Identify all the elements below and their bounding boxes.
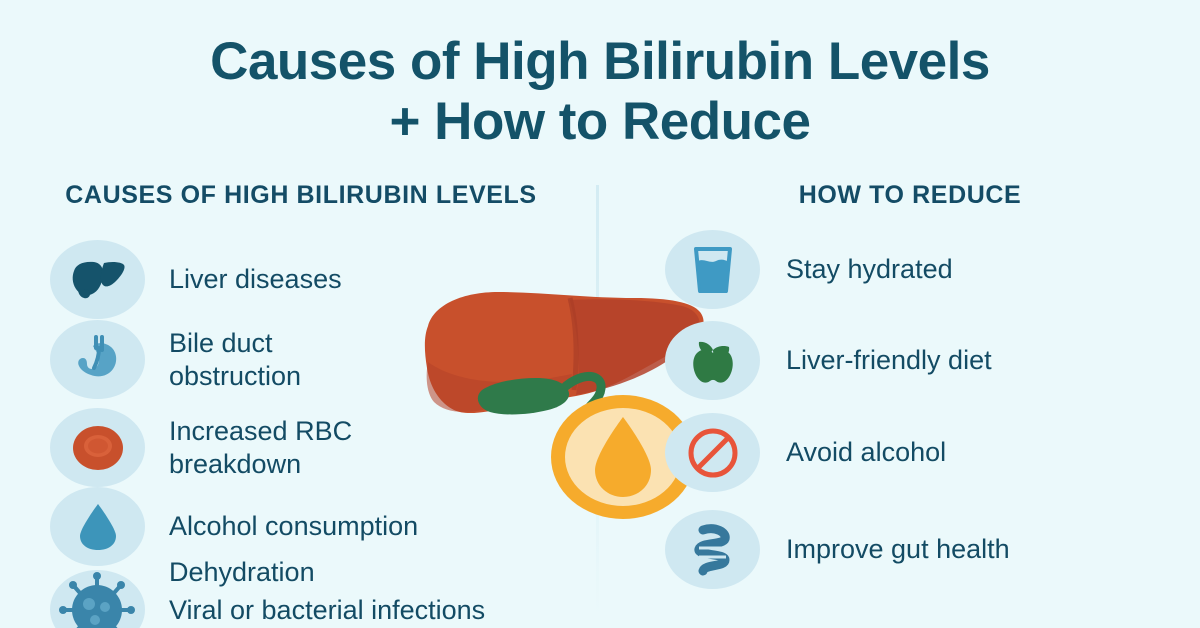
reduce-item-liver-friendly-diet[interactable]: Liver-friendly diet bbox=[665, 321, 992, 400]
cause-label: Increased RBC breakdown bbox=[169, 415, 352, 481]
reduce-label: Stay hydrated bbox=[786, 253, 953, 286]
liver-organ-shape bbox=[425, 292, 704, 413]
liver-lower-shading bbox=[427, 362, 572, 412]
reduce-label: Avoid alcohol bbox=[786, 436, 946, 469]
badge-inner-fill bbox=[565, 408, 681, 506]
stomach-bile-duct-icon bbox=[50, 320, 145, 399]
cause-item-liver-diseases[interactable]: Liver diseases bbox=[50, 240, 342, 319]
virus-icon bbox=[50, 570, 145, 628]
apple-icon bbox=[665, 321, 760, 400]
gallbladder-shape bbox=[478, 378, 569, 414]
title-line-2: + How to Reduce bbox=[0, 92, 1200, 152]
page-title: Causes of High Bilirubin Levels + How to… bbox=[0, 32, 1200, 152]
bilirubin-droplet-shape bbox=[595, 417, 651, 497]
liver-icon bbox=[50, 240, 145, 319]
right-column-heading: HOW TO REDUCE bbox=[640, 178, 1180, 213]
infographic-canvas: Causes of High Bilirubin Levels + How to… bbox=[0, 0, 1200, 628]
cause-label: Viral or bacterial infections bbox=[169, 594, 485, 627]
no-alcohol-icon bbox=[665, 413, 760, 492]
red-blood-cell-icon bbox=[50, 408, 145, 487]
reduce-item-avoid-alcohol[interactable]: Avoid alcohol bbox=[665, 413, 946, 492]
cause-label: Liver diseases bbox=[169, 263, 342, 296]
cause-item-increased-rbc-breakdown[interactable]: Increased RBC breakdown bbox=[50, 408, 352, 487]
reduce-label: Liver-friendly diet bbox=[786, 344, 992, 377]
left-column-heading: CAUSES OF HIGH BILIRUBIN LEVELS bbox=[36, 178, 566, 213]
reduce-item-stay-hydrated[interactable]: Stay hydrated bbox=[665, 230, 953, 309]
liver-fissure bbox=[570, 298, 576, 390]
title-line-1: Causes of High Bilirubin Levels bbox=[0, 32, 1200, 92]
cause-item-bile-duct-obstruction[interactable]: Bile duct obstruction bbox=[50, 320, 301, 399]
reduce-label: Improve gut health bbox=[786, 533, 1010, 566]
water-glass-icon bbox=[665, 230, 760, 309]
cause-label: Bile duct obstruction bbox=[169, 327, 301, 393]
column-divider bbox=[596, 185, 599, 615]
intestine-icon bbox=[665, 510, 760, 589]
reduce-item-improve-gut-health[interactable]: Improve gut health bbox=[665, 510, 1010, 589]
